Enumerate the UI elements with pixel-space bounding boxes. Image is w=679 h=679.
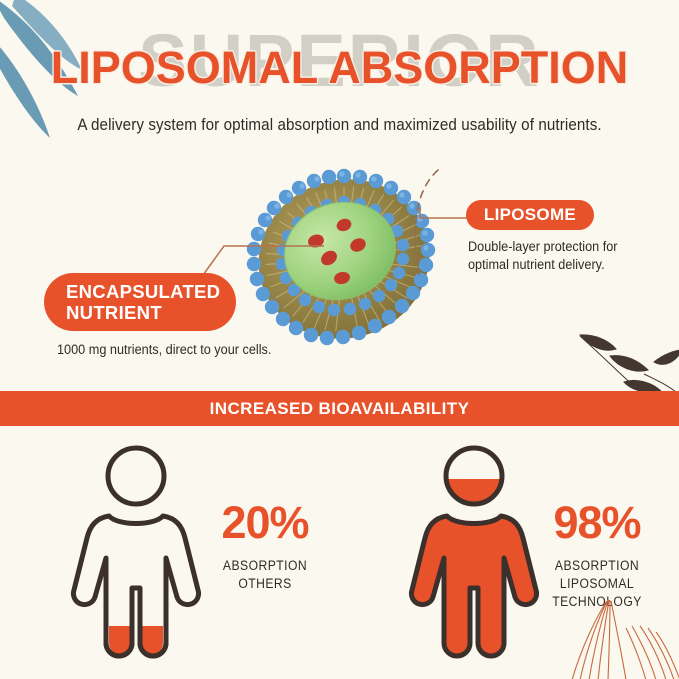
- comparison-section: 20% ABSORPTION OTHERS: [0, 430, 679, 679]
- brown-leaf-sprig-icon: [566, 322, 679, 394]
- comparison-column-others: 20% ABSORPTION OTHERS: [0, 430, 340, 679]
- label-liposomal-line1: ABSORPTION: [523, 557, 671, 575]
- percent-liposomal: 98%: [515, 500, 679, 545]
- banner-title: INCREASED BIOAVAILABILITY: [210, 399, 470, 419]
- liposome-connector-line: [419, 206, 471, 226]
- bioavailability-banner: INCREASED BIOAVAILABILITY: [0, 391, 679, 426]
- stat-others: 20% ABSORPTION OTHERS: [190, 500, 340, 593]
- label-others-line2: OTHERS: [198, 575, 333, 593]
- page-title: LIPOSOMAL ABSORPTION: [0, 45, 679, 90]
- percent-others: 20%: [190, 500, 340, 545]
- badge-nutrient-label-line1: ENCAPSULATED: [66, 281, 220, 302]
- label-liposomal-line2: LIPOSOMAL TECHNOLOGY: [523, 575, 671, 611]
- header: SUPERIOR LIPOSOMAL ABSORPTION A delivery…: [0, 0, 679, 150]
- subtitle: A delivery system for optimal absorption…: [27, 116, 652, 135]
- nutrient-description: 1000 mg nutrients, direct to your cells.: [57, 341, 339, 359]
- comparison-column-liposomal: 98% ABSORPTION LIPOSOMAL TECHNOLOGY: [340, 430, 679, 679]
- label-liposomal: ABSORPTION LIPOSOMAL TECHNOLOGY: [523, 557, 671, 612]
- label-others-line1: ABSORPTION: [198, 557, 333, 575]
- liposome-description: Double-layer protection for optimal nutr…: [468, 238, 647, 274]
- infographic-canvas: SUPERIOR LIPOSOMAL ABSORPTION A delivery…: [0, 0, 679, 679]
- label-others: ABSORPTION OTHERS: [198, 557, 333, 593]
- person-figure-others: [62, 438, 202, 668]
- stat-liposomal: 98% ABSORPTION LIPOSOMAL TECHNOLOGY: [515, 500, 679, 612]
- badge-nutrient-label-line2: NUTRIENT: [66, 302, 220, 323]
- badge-encapsulated-nutrient[interactable]: ENCAPSULATED NUTRIENT: [44, 273, 236, 331]
- badge-liposome-label: LIPOSOME: [484, 205, 576, 225]
- badge-liposome[interactable]: LIPOSOME: [466, 200, 594, 230]
